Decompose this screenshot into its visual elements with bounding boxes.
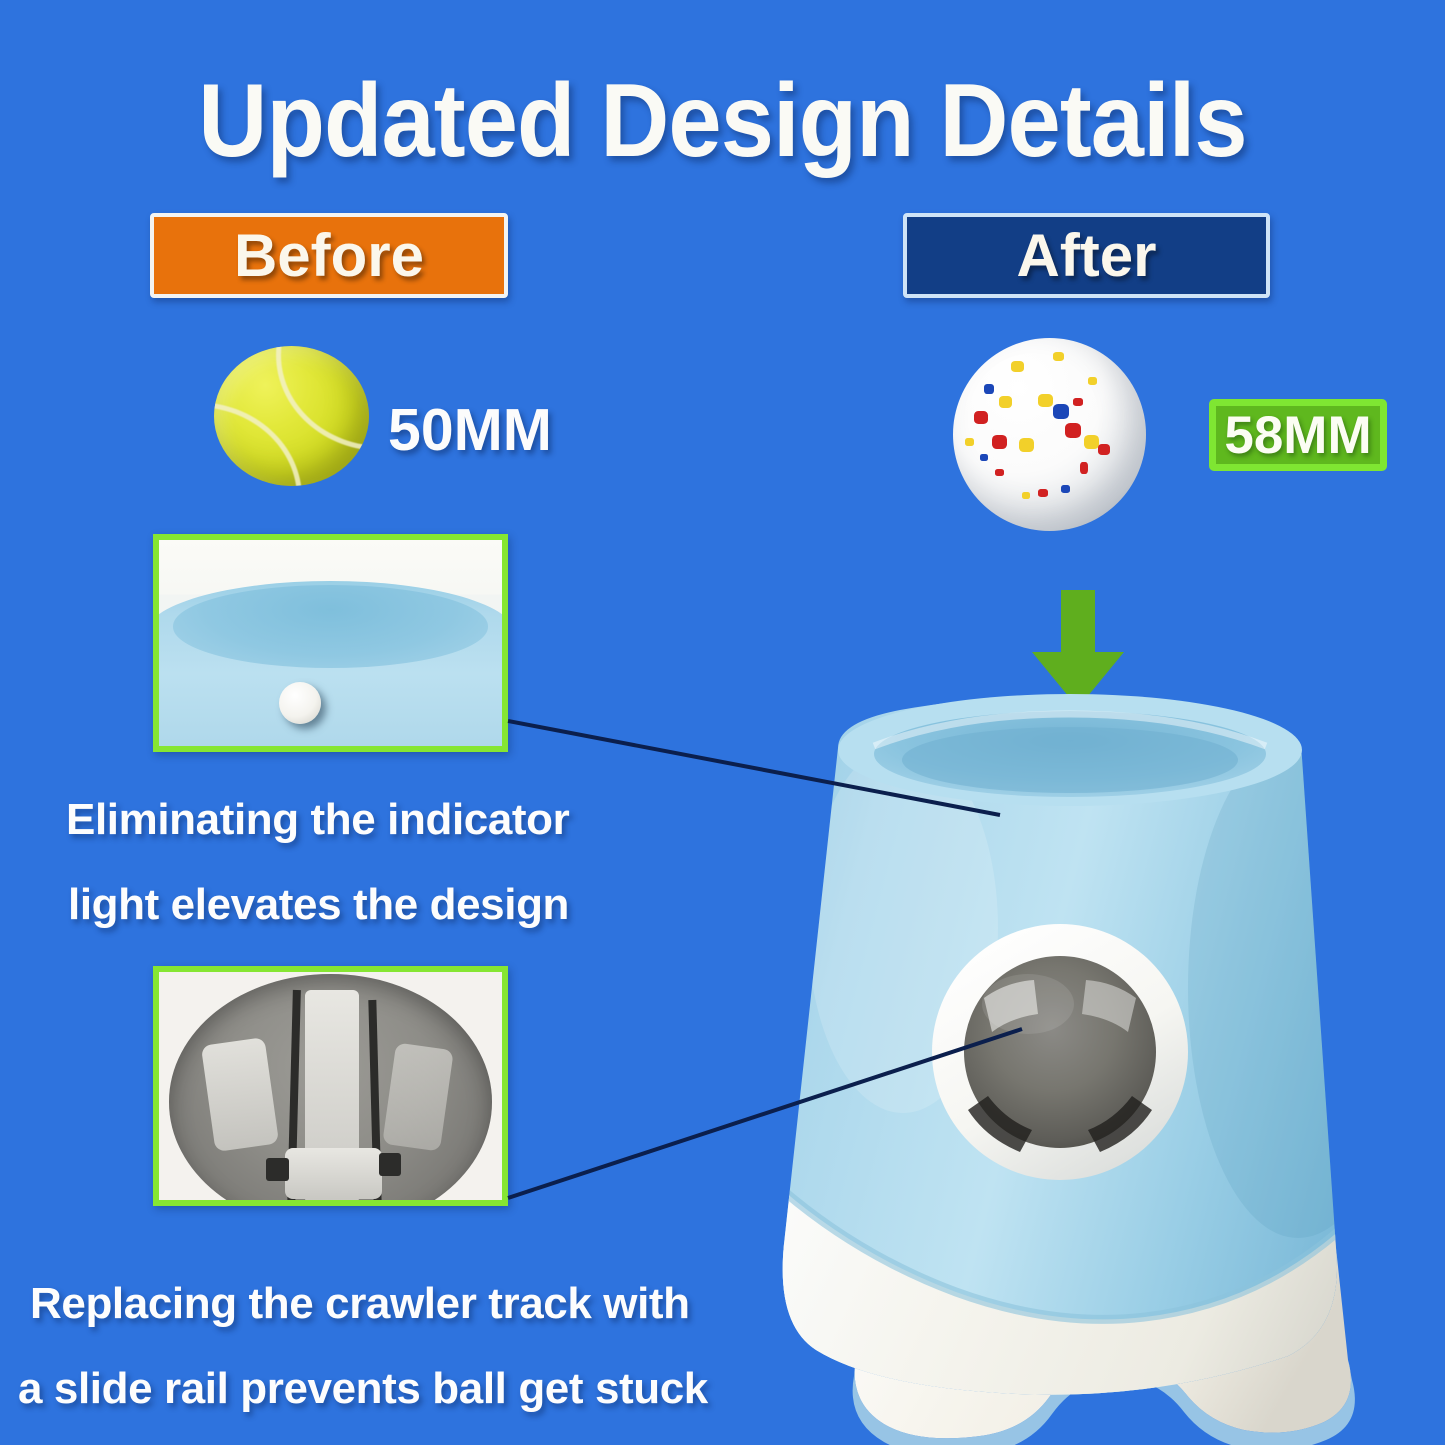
connector-lines [0,0,1445,1445]
connector-indicator-light [508,721,1000,815]
infographic-canvas: Updated Design Details Before After 50MM… [0,0,1445,1445]
connector-launch-port [508,1029,1022,1198]
